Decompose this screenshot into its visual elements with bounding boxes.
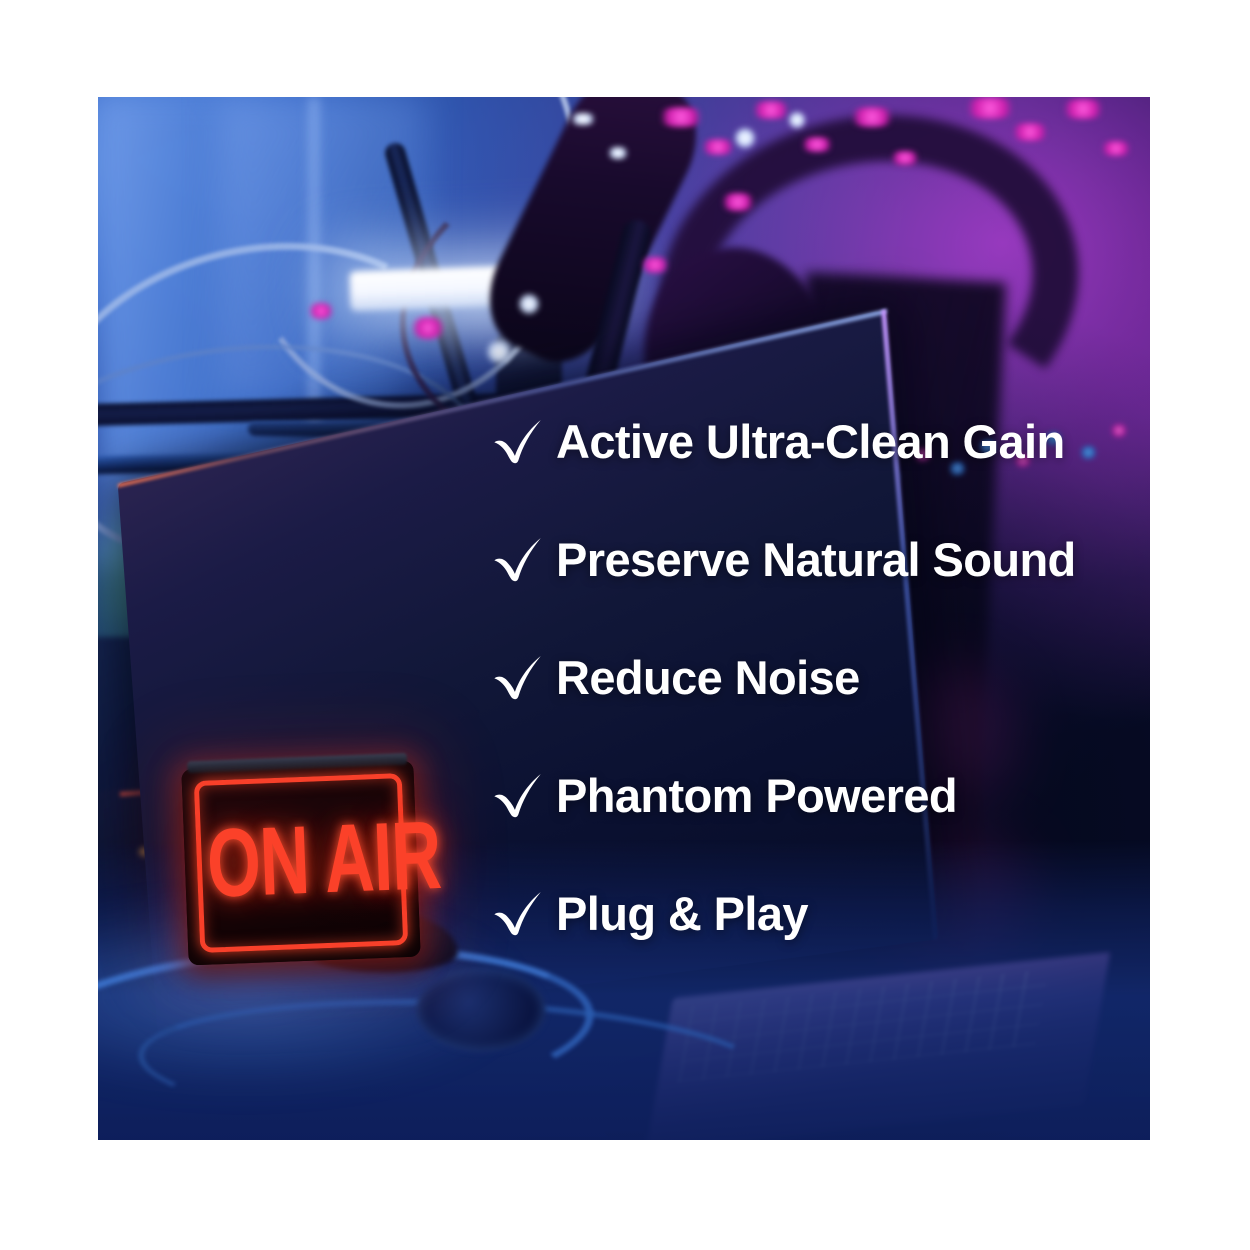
light-speck	[788, 111, 806, 129]
feature-list: Active Ultra-Clean GainPreserve Natural …	[490, 382, 1130, 972]
light-speck	[748, 101, 794, 119]
on-air-sign-text: ON AIR	[183, 816, 418, 907]
on-air-sign-label: ON AIR	[205, 808, 442, 914]
feature-label: Phantom Powered	[556, 772, 957, 819]
on-air-sign: ON AIR	[181, 761, 420, 966]
feature-label: Reduce Noise	[556, 654, 860, 701]
feature-row: Phantom Powered	[490, 736, 1130, 854]
feature-label: Preserve Natural Sound	[556, 536, 1076, 583]
check-icon	[490, 649, 546, 705]
studio-photo: ON AIR Active Ultra-Clean GainPreserve N…	[98, 97, 1150, 1140]
feature-row: Plug & Play	[490, 854, 1130, 972]
cable-coil	[416, 968, 546, 1052]
check-icon	[490, 531, 546, 587]
feature-row: Active Ultra-Clean Gain	[490, 382, 1130, 500]
light-speck	[1008, 123, 1052, 141]
check-icon	[490, 413, 546, 469]
feature-label: Active Ultra-Clean Gain	[556, 418, 1065, 465]
light-speck	[960, 97, 1020, 119]
product-feature-card: ON AIR Active Ultra-Clean GainPreserve N…	[0, 0, 1250, 1250]
feature-label: Plug & Play	[556, 890, 808, 937]
light-speck	[1098, 141, 1134, 156]
feature-row: Preserve Natural Sound	[490, 500, 1130, 618]
check-icon	[490, 885, 546, 941]
check-icon	[490, 767, 546, 823]
feature-row: Reduce Noise	[490, 618, 1130, 736]
light-speck	[1058, 99, 1108, 119]
